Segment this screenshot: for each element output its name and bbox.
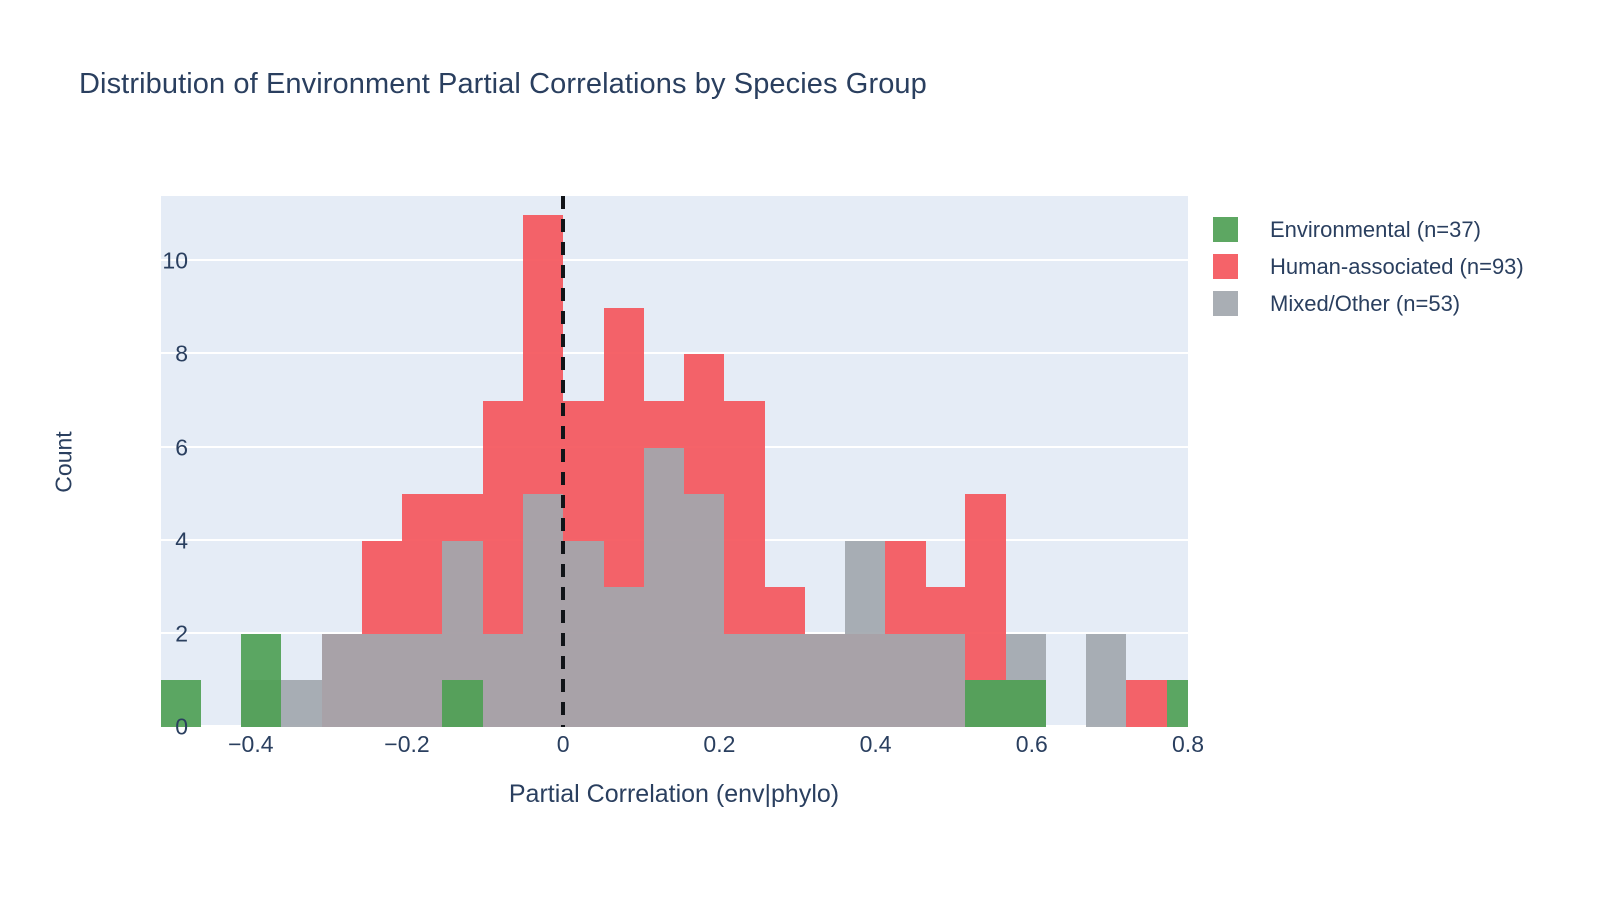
bar-environmental-2 [241, 634, 281, 727]
bar-mixed_other-17 [845, 541, 885, 727]
legend: Environmental (n=37)Human-associated (n=… [1213, 211, 1524, 322]
bar-mixed_other-8 [483, 634, 523, 727]
legend-label-human_associated: Human-associated (n=93) [1270, 254, 1524, 280]
x-tick-label-6: 0.8 [1172, 731, 1204, 758]
bar-environmental-21 [1006, 680, 1046, 727]
legend-item-environmental[interactable]: Environmental (n=37) [1213, 211, 1524, 248]
legend-swatch-mixed_other [1213, 291, 1238, 316]
plot-area [161, 196, 1188, 727]
y-tick-label-4: 4 [175, 527, 188, 554]
histogram-chart: Distribution of Environment Partial Corr… [0, 0, 1600, 900]
x-tick-label-0: −0.4 [228, 731, 273, 758]
bar-mixed_other-12 [644, 448, 685, 727]
y-tick-label-8: 8 [175, 341, 188, 368]
x-tick-label-5: 0.6 [1016, 731, 1048, 758]
y-axis-title: Count [51, 431, 78, 492]
bar-mixed_other-11 [604, 587, 644, 727]
x-tick-label-3: 0.2 [703, 731, 735, 758]
y-tick-label-0: 0 [175, 714, 188, 741]
legend-item-mixed_other[interactable]: Mixed/Other (n=53) [1213, 285, 1524, 322]
x-tick-label-4: 0.4 [860, 731, 892, 758]
legend-label-environmental: Environmental (n=37) [1270, 217, 1481, 243]
x-tick-label-2: 0 [557, 731, 570, 758]
y-tick-label-10: 10 [162, 248, 188, 275]
y-tick-label-6: 6 [175, 434, 188, 461]
x-tick-label-1: −0.2 [384, 731, 429, 758]
bar-mixed_other-23 [1086, 634, 1126, 727]
bar-mixed_other-10 [563, 541, 604, 727]
bar-mixed_other-16 [805, 634, 846, 727]
chart-title: Distribution of Environment Partial Corr… [79, 68, 927, 101]
bar-mixed_other-13 [684, 494, 724, 727]
bar-mixed_other-15 [765, 634, 805, 727]
legend-swatch-human_associated [1213, 254, 1238, 279]
legend-label-mixed_other: Mixed/Other (n=53) [1270, 291, 1460, 317]
bars-layer [161, 196, 1188, 727]
bar-mixed_other-6 [402, 634, 442, 727]
legend-item-human_associated[interactable]: Human-associated (n=93) [1213, 248, 1524, 285]
bar-mixed_other-4 [322, 634, 362, 727]
bar-environmental-25 [1167, 680, 1188, 727]
legend-swatch-environmental [1213, 217, 1238, 242]
y-tick-label-2: 2 [175, 620, 188, 647]
bar-mixed_other-14 [724, 634, 765, 727]
bar-mixed_other-19 [926, 634, 966, 727]
bar-mixed_other-5 [362, 634, 403, 727]
bar-mixed_other-18 [885, 634, 926, 727]
bar-human_associated-24 [1126, 680, 1167, 727]
zero-reference-line [561, 196, 565, 727]
bar-mixed_other-3 [281, 680, 322, 727]
bar-mixed_other-9 [523, 494, 564, 727]
x-axis-title: Partial Correlation (env|phylo) [509, 780, 839, 809]
bar-environmental-20 [965, 680, 1006, 727]
bar-environmental-7 [442, 680, 483, 727]
